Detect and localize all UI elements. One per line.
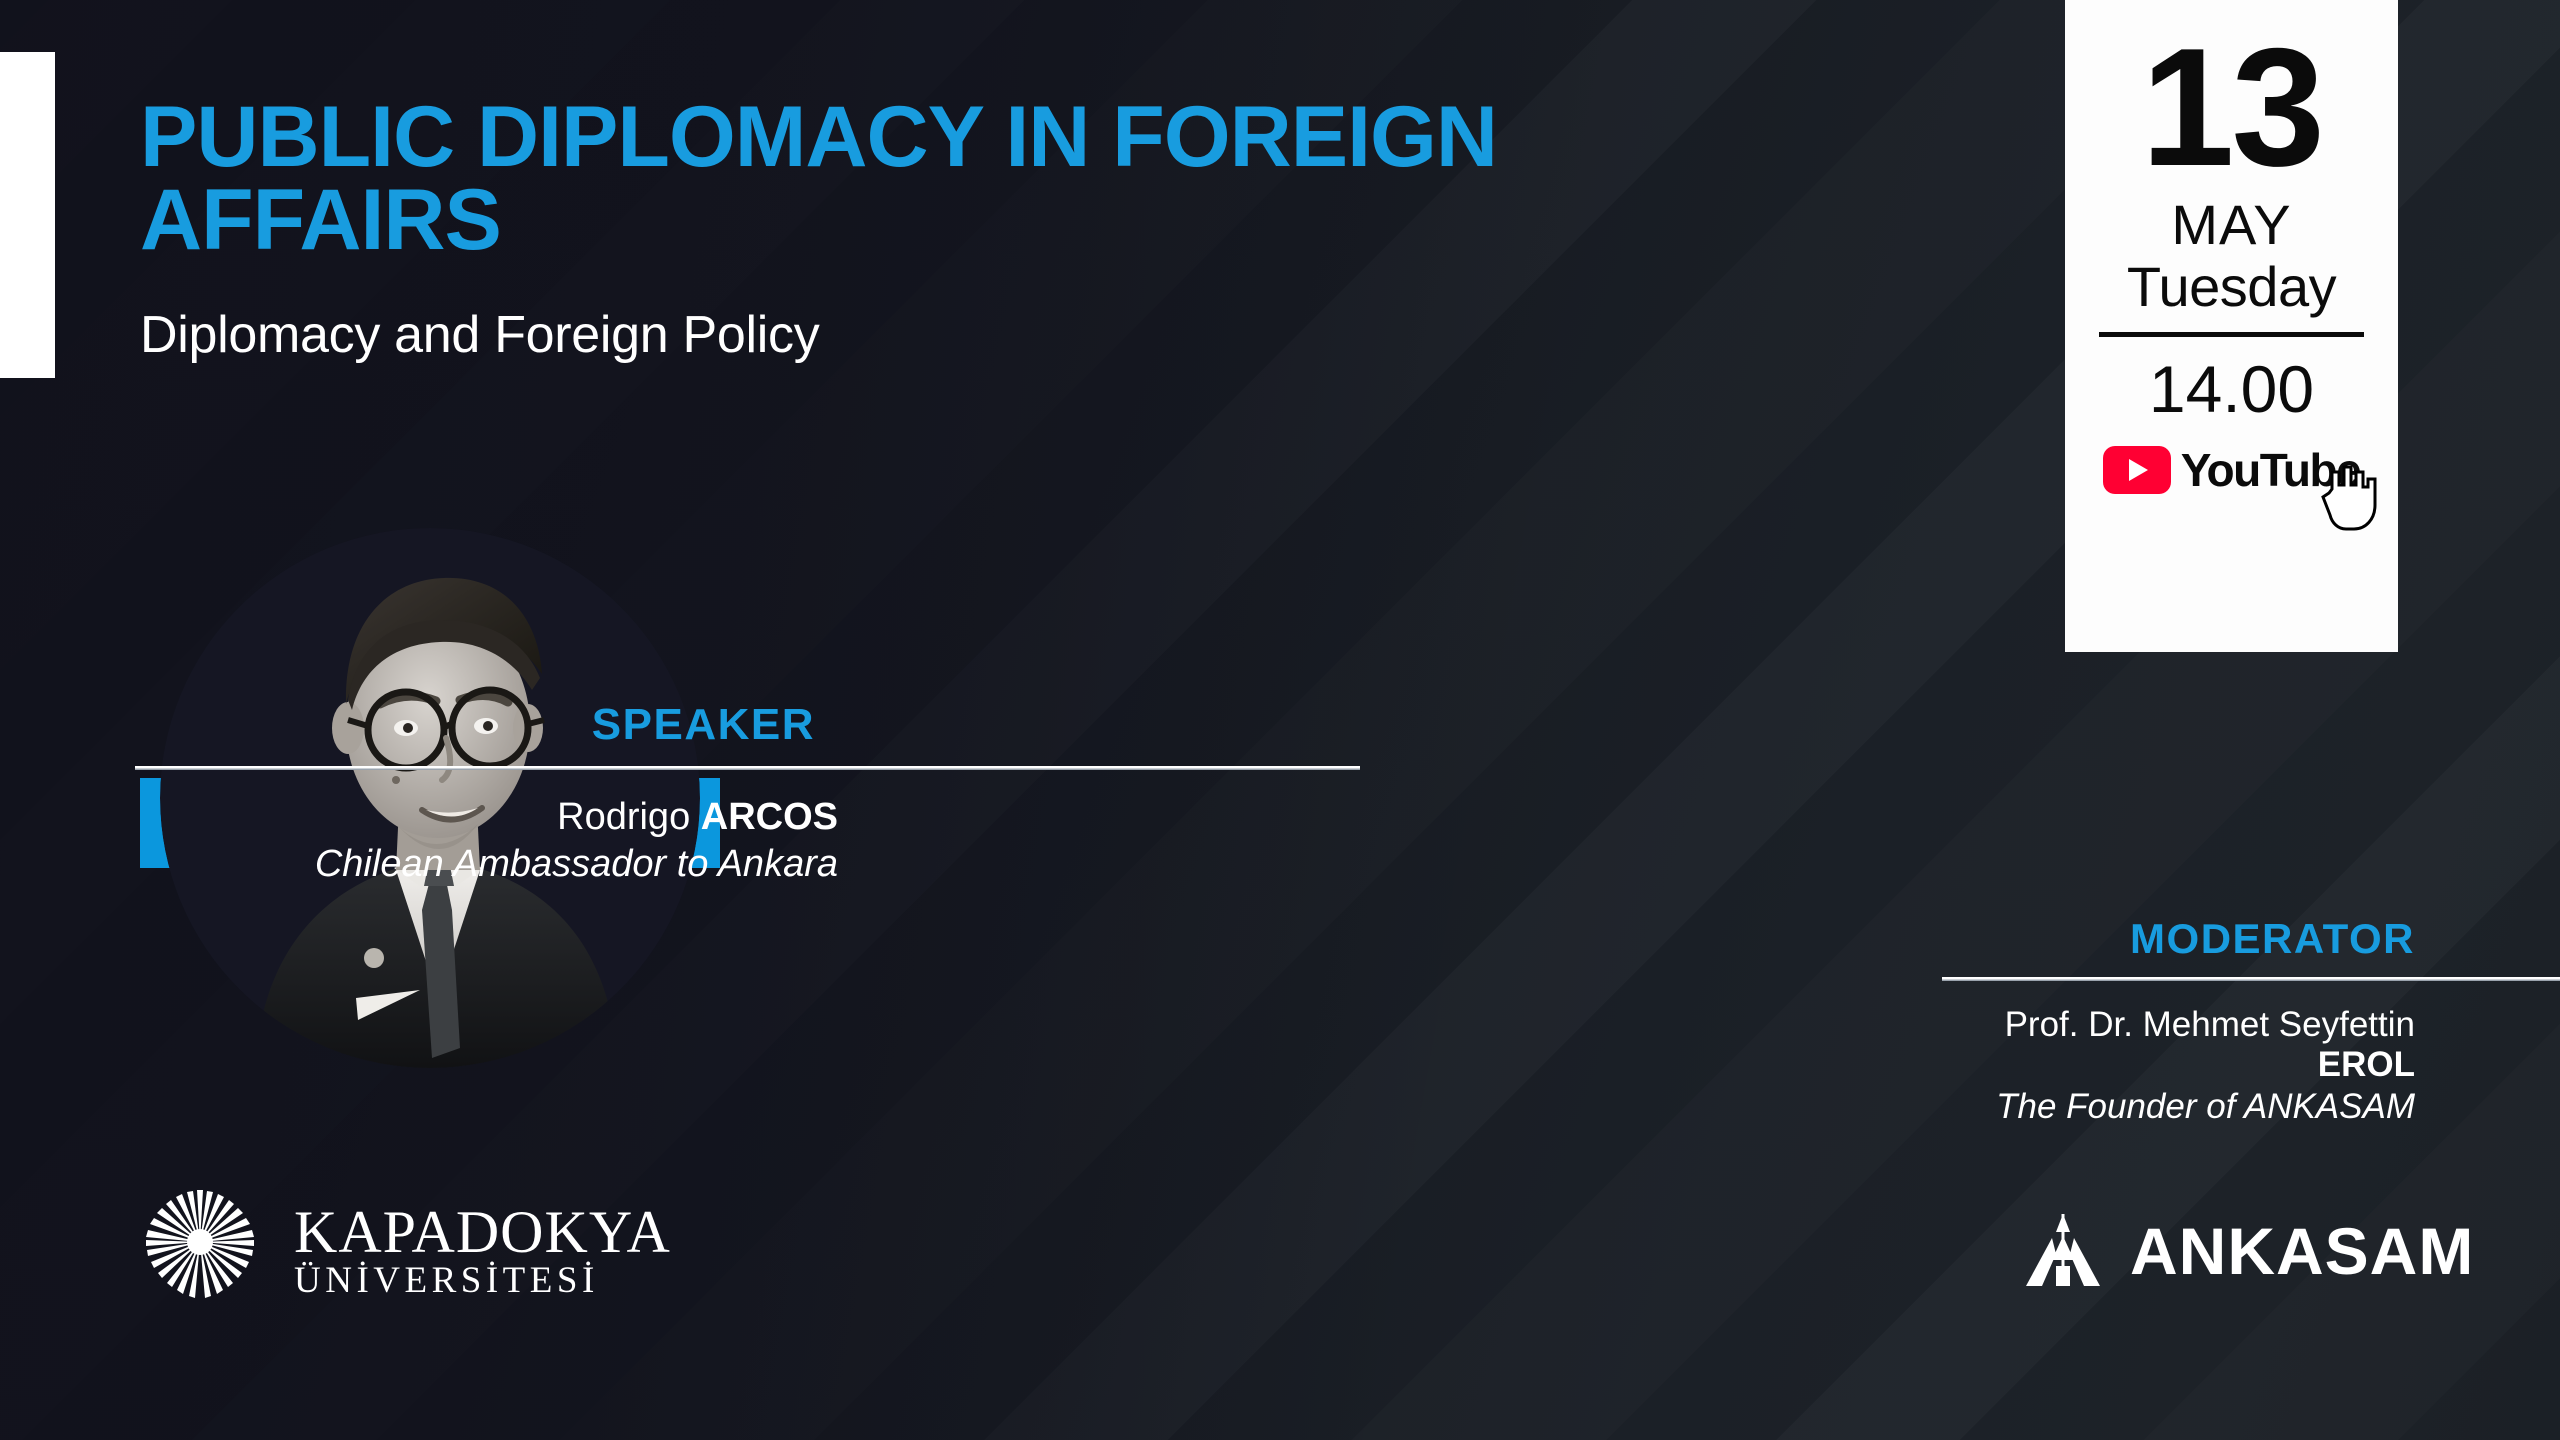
- moderator-given-name: Prof. Dr. Mehmet Seyfettin: [2005, 1005, 2415, 1044]
- kapadokya-subtitle: ÜNİVERSİTESİ: [294, 1262, 671, 1299]
- ankasam-logo: ANKASAM: [2022, 1212, 2474, 1290]
- youtube-link-badge[interactable]: YouTube: [2103, 443, 2360, 497]
- date-card: 13 MAY Tuesday 14.00 YouTube: [2065, 0, 2398, 652]
- kapadokya-name: KAPADOKYA: [294, 1202, 671, 1262]
- moderator-block: MODERATOR Prof. Dr. Mehmet Seyfettin ERO…: [1942, 915, 2560, 1127]
- date-day-number: 13: [2141, 28, 2322, 188]
- play-triangle-icon: [2129, 459, 2148, 481]
- headline-block: PUBLIC DIPLOMACY IN FOREIGN AFFAIRS Dipl…: [140, 96, 1780, 365]
- page-subtitle: Diplomacy and Foreign Policy: [140, 305, 1780, 365]
- moderator-divider: [1942, 977, 2560, 981]
- speaker-divider: [135, 766, 1360, 770]
- left-white-accent-bar: [0, 52, 55, 378]
- date-divider: [2099, 332, 2364, 337]
- moderator-kicker: MODERATOR: [1942, 915, 2560, 963]
- speaker-given-name: Rodrigo: [557, 796, 701, 838]
- pointing-hand-cursor-icon: [2320, 459, 2388, 537]
- speaker-name: Rodrigo ARCOS: [135, 796, 1360, 839]
- youtube-icon[interactable]: [2103, 446, 2171, 494]
- speaker-kicker: SPEAKER: [135, 700, 1360, 750]
- kapadokya-sunburst-fan-icon: [130, 1190, 270, 1310]
- moderator-name: Prof. Dr. Mehmet Seyfettin EROL: [1942, 1005, 2560, 1085]
- speaker-role: Chilean Ambassador to Ankara: [135, 843, 1360, 886]
- speaker-block: SPEAKER Rodrigo ARCOS Chilean Ambassador…: [135, 700, 1360, 886]
- ankasam-triangle-pyramid-icon: [2022, 1212, 2104, 1290]
- speaker-family-name: ARCOS: [701, 796, 838, 838]
- kapadokya-university-logo: KAPADOKYA ÜNİVERSİTESİ: [130, 1190, 671, 1310]
- ankasam-name: ANKASAM: [2130, 1213, 2474, 1289]
- moderator-family-name: EROL: [2318, 1045, 2415, 1084]
- kapadokya-wordmark: KAPADOKYA ÜNİVERSİTESİ: [294, 1202, 671, 1299]
- moderator-role: The Founder of ANKASAM: [1942, 1087, 2560, 1127]
- page-title: PUBLIC DIPLOMACY IN FOREIGN AFFAIRS: [140, 96, 1620, 261]
- date-month: MAY: [2171, 192, 2291, 257]
- event-time: 14.00: [2149, 351, 2314, 427]
- date-weekday: Tuesday: [2127, 257, 2336, 316]
- event-poster: PUBLIC DIPLOMACY IN FOREIGN AFFAIRS Dipl…: [0, 0, 2560, 1440]
